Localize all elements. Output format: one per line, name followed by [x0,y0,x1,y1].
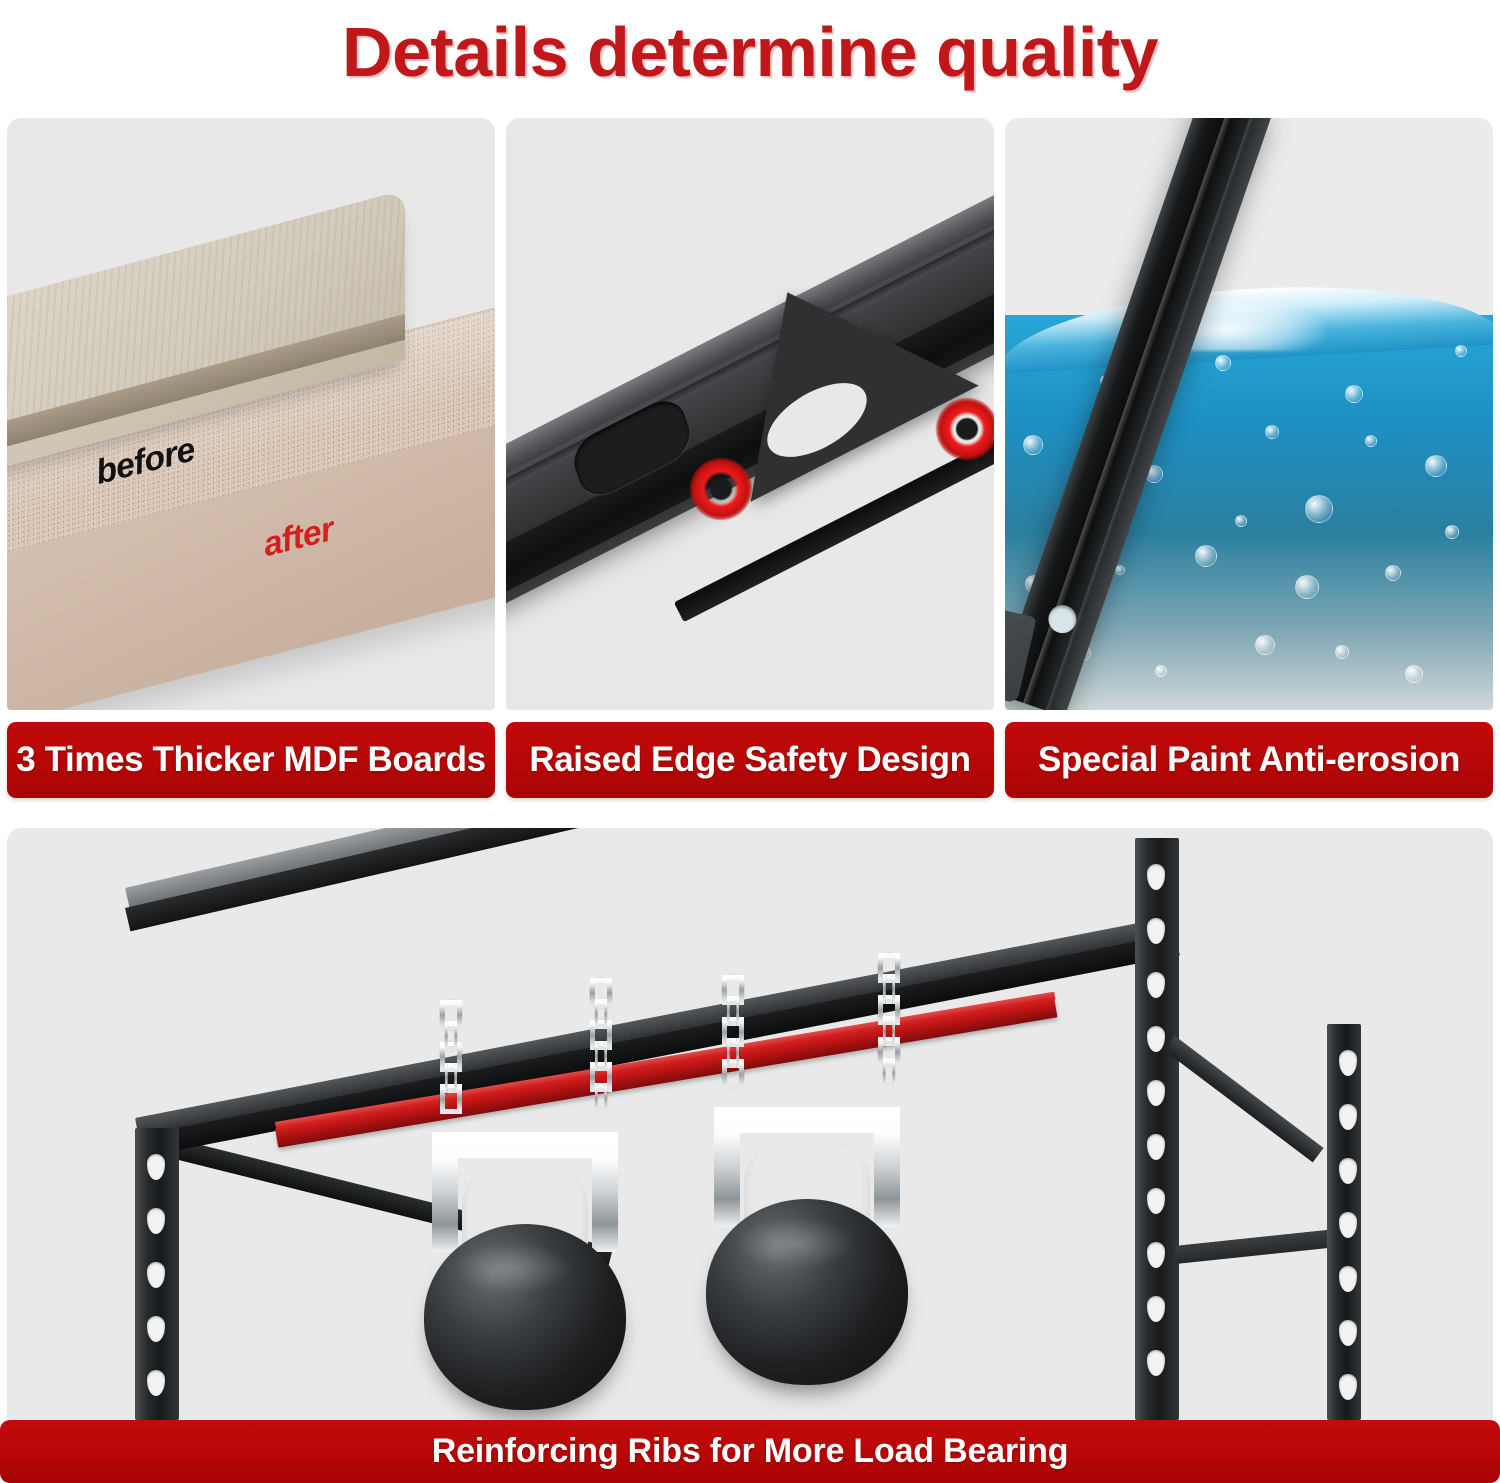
caption-anti-erosion[interactable]: Special Paint Anti-erosion [1005,722,1493,798]
rack-slot [1339,1104,1357,1130]
rack-slot [1339,1266,1357,1292]
rack-slot [1147,972,1165,998]
caption-raised-edge[interactable]: Raised Edge Safety Design [506,722,994,798]
kettlebell-body-sheen [736,1217,856,1269]
rack-slot [1147,1134,1165,1160]
water-bubble [1265,425,1279,439]
water-bubble [1295,575,1319,599]
chain-link [883,1016,895,1046]
feature-card-mdf-boards[interactable]: before after 3 Times Thicker MDF Boards [7,118,495,798]
chain-link [727,996,739,1026]
chain-link [883,1058,895,1088]
chain-link [595,1041,607,1071]
kettlebell-body [424,1224,626,1410]
water-bubble [1305,495,1333,523]
rack-post-right [1135,838,1179,1420]
chain-link [727,1038,739,1068]
kettlebell-body [706,1199,908,1385]
water-bubble [1445,525,1459,539]
water-bubble [1455,345,1467,357]
rack-slot [1339,1374,1357,1400]
kettlebell-chain [590,978,612,1113]
water-scene [1005,118,1493,710]
water-bubble [1195,545,1217,567]
mdf-scene: before after [7,118,495,710]
rack-slot [147,1262,165,1288]
kettlebell-chain [440,1000,462,1114]
caption-hero-reinforcing-ribs[interactable]: Reinforcing Ribs for More Load Bearing [0,1420,1500,1483]
feature-card-row: before after 3 Times Thicker MDF Boards [7,118,1493,798]
feature-card-raised-edge[interactable]: Raised Edge Safety Design [506,118,994,798]
chain-link [445,1021,457,1051]
rack-post-left [135,1128,179,1420]
water-bubble [1385,565,1401,581]
water-bubble [1255,635,1275,655]
feature-card-anti-erosion[interactable]: Special Paint Anti-erosion [1005,118,1493,798]
kettlebell-chain [722,975,744,1089]
mdf-boards-image: before after [7,118,495,710]
kettlebell-chain [878,953,900,1088]
chain-link [595,1083,607,1113]
chain-link [595,999,607,1029]
red-highlight-ring-right [936,398,994,460]
rack-slot [1147,918,1165,944]
chain-link [445,1063,457,1093]
red-highlight-ring-left [690,458,752,520]
caption-mdf-boards[interactable]: 3 Times Thicker MDF Boards [7,722,495,798]
rack-slot [147,1154,165,1180]
rack-slot [1147,1350,1165,1376]
water-bubble [1365,435,1377,447]
water-bubble [1345,385,1363,403]
rack-slot [1339,1320,1357,1346]
rack-top-back-beam-face [125,828,1222,931]
rack-right-lower-beam [1175,1228,1352,1264]
rack-slot [1339,1158,1357,1184]
rack-post-far-right [1327,1024,1361,1420]
rack-top-front-beam [135,916,1179,1138]
rivet-hole-left [710,478,732,500]
water-bubble [1335,645,1349,659]
rack-slot [1339,1212,1357,1238]
rack-slot [147,1370,165,1396]
rack-post-far-right-slots [1339,1050,1359,1410]
rack-slot [1147,1026,1165,1052]
kettlebell [700,1107,914,1321]
rack-diagonal-brace [1164,1036,1323,1162]
water-bubble [1023,435,1043,455]
anti-erosion-image [1005,118,1493,710]
chain-link [883,974,895,1004]
rack-slot [1147,1242,1165,1268]
rack-slot [147,1316,165,1342]
kettlebell-body-sheen [454,1242,574,1294]
beam-scene [506,118,994,710]
rack-slot [1147,864,1165,890]
rack-slot [1339,1050,1357,1076]
kettlebell [418,1132,632,1346]
water-bubble [1405,665,1423,683]
page-title: Details determine quality [0,0,1500,104]
rivet-hole-right [956,418,978,440]
water-bubble [1425,455,1447,477]
water-bubble [1235,515,1247,527]
rack-slot [1147,1188,1165,1214]
rack-post-left-slots [147,1154,167,1410]
rack-slot [1147,1296,1165,1322]
raised-edge-image [506,118,994,710]
water-bubble [1155,665,1167,677]
rack-top-back-beam [125,828,1221,909]
rack-slot [147,1208,165,1234]
rack-slot [1147,1080,1165,1106]
rack-post-right-slots [1147,864,1167,1410]
